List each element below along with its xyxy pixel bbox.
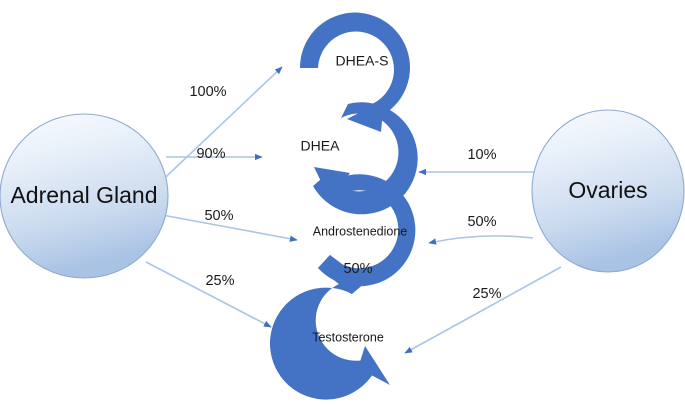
dhea-s-label: DHEA-S (336, 53, 389, 69)
pct-label-andro-to-testosterone: 50% (343, 261, 372, 277)
androstenedione-label: Androstenedione (313, 224, 408, 238)
testosterone-label: Testosterone (312, 330, 384, 344)
androgen-pathway-diagram: Adrenal Gland Ovaries DHEA-S DHEA Andros… (0, 0, 685, 405)
pct-label-adrenal-to-androstenedione: 50% (204, 208, 233, 224)
dhea-label: DHEA (301, 138, 341, 154)
pct-label-adrenal-to-testosterone: 25% (205, 273, 234, 289)
flow-line-adrenal-to-testosterone (146, 262, 271, 327)
diagram-canvas: Adrenal Gland Ovaries DHEA-S DHEA Andros… (0, 0, 685, 405)
adrenal-gland-label: Adrenal Gland (10, 182, 157, 208)
pct-label-adrenal-to-dhea: 90% (196, 146, 225, 162)
flow-line-ovaries-to-androstenedione (429, 236, 533, 243)
pct-label-ovaries-to-dhea: 10% (467, 147, 496, 163)
flow-line-ovaries-to-testosterone (405, 267, 561, 353)
pct-label-ovaries-to-testosterone: 25% (472, 286, 501, 302)
pct-label-ovaries-to-androstenedione: 50% (467, 214, 496, 230)
ovaries-label: Ovaries (568, 177, 647, 203)
pct-label-adrenal-to-dheas: 100% (189, 84, 226, 100)
